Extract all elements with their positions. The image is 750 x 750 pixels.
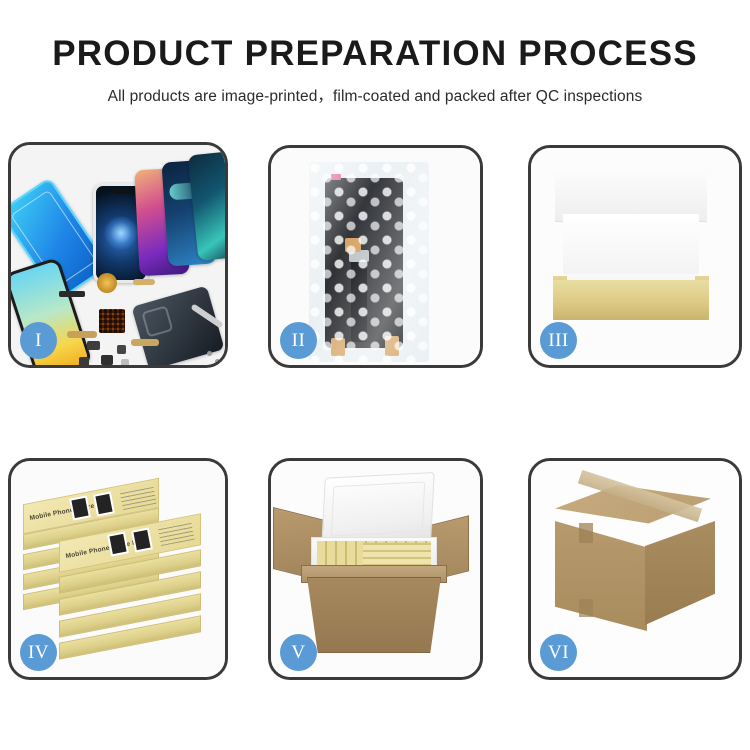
steps-grid: I II xyxy=(0,0,750,750)
part-speaker-coil xyxy=(97,273,117,293)
step-badge-1: I xyxy=(20,322,57,359)
part-screw-2 xyxy=(215,359,220,364)
carton-seam-bottom xyxy=(579,599,593,617)
box-window-1a xyxy=(69,495,91,520)
product-preparation-infographic: PRODUCT PREPARATION PROCESS All products… xyxy=(0,0,750,750)
part-small-1 xyxy=(79,357,89,365)
box-window-2b xyxy=(131,527,153,552)
box-lid-face xyxy=(563,214,699,280)
step-badge-2: II xyxy=(280,322,317,359)
step-panel-1: I xyxy=(8,142,228,368)
step-panel-4: Mobile Phone Spare Parts Mobile Phone Sp… xyxy=(8,458,228,680)
part-flex-cable-c xyxy=(133,279,155,285)
carton-front-face xyxy=(555,521,647,631)
part-small-2 xyxy=(101,355,113,365)
foam-lid xyxy=(321,472,434,546)
step-panel-5: V xyxy=(268,458,483,680)
box-stack: Mobile Phone Spare Parts Mobile Phone Sp… xyxy=(17,479,213,659)
carton-side-face xyxy=(645,521,715,625)
step-badge-6: VI xyxy=(540,634,577,671)
carton-body xyxy=(307,577,441,653)
part-screw-1 xyxy=(207,351,212,356)
box-tray-front xyxy=(553,280,709,320)
part-flex-cable-a xyxy=(67,331,97,338)
step-panel-2: II xyxy=(268,145,483,368)
box-window-1b xyxy=(93,491,115,516)
step-panel-6: VI xyxy=(528,458,742,680)
step-badge-3: III xyxy=(540,322,577,359)
box-window-2a xyxy=(107,531,129,556)
step-badge-5: V xyxy=(280,634,317,671)
part-small-4 xyxy=(121,359,129,365)
step-panel-3: III xyxy=(528,145,742,368)
bubble-wrap-bag xyxy=(309,162,429,362)
part-small-3 xyxy=(117,345,126,354)
part-logic-board xyxy=(99,309,125,333)
part-flex-cable-b xyxy=(131,339,159,346)
bag-sheen xyxy=(309,162,429,362)
step-badge-4: IV xyxy=(20,634,57,671)
part-bar xyxy=(59,291,85,297)
part-small-5 xyxy=(87,341,100,350)
carton-seam-top xyxy=(579,523,593,543)
